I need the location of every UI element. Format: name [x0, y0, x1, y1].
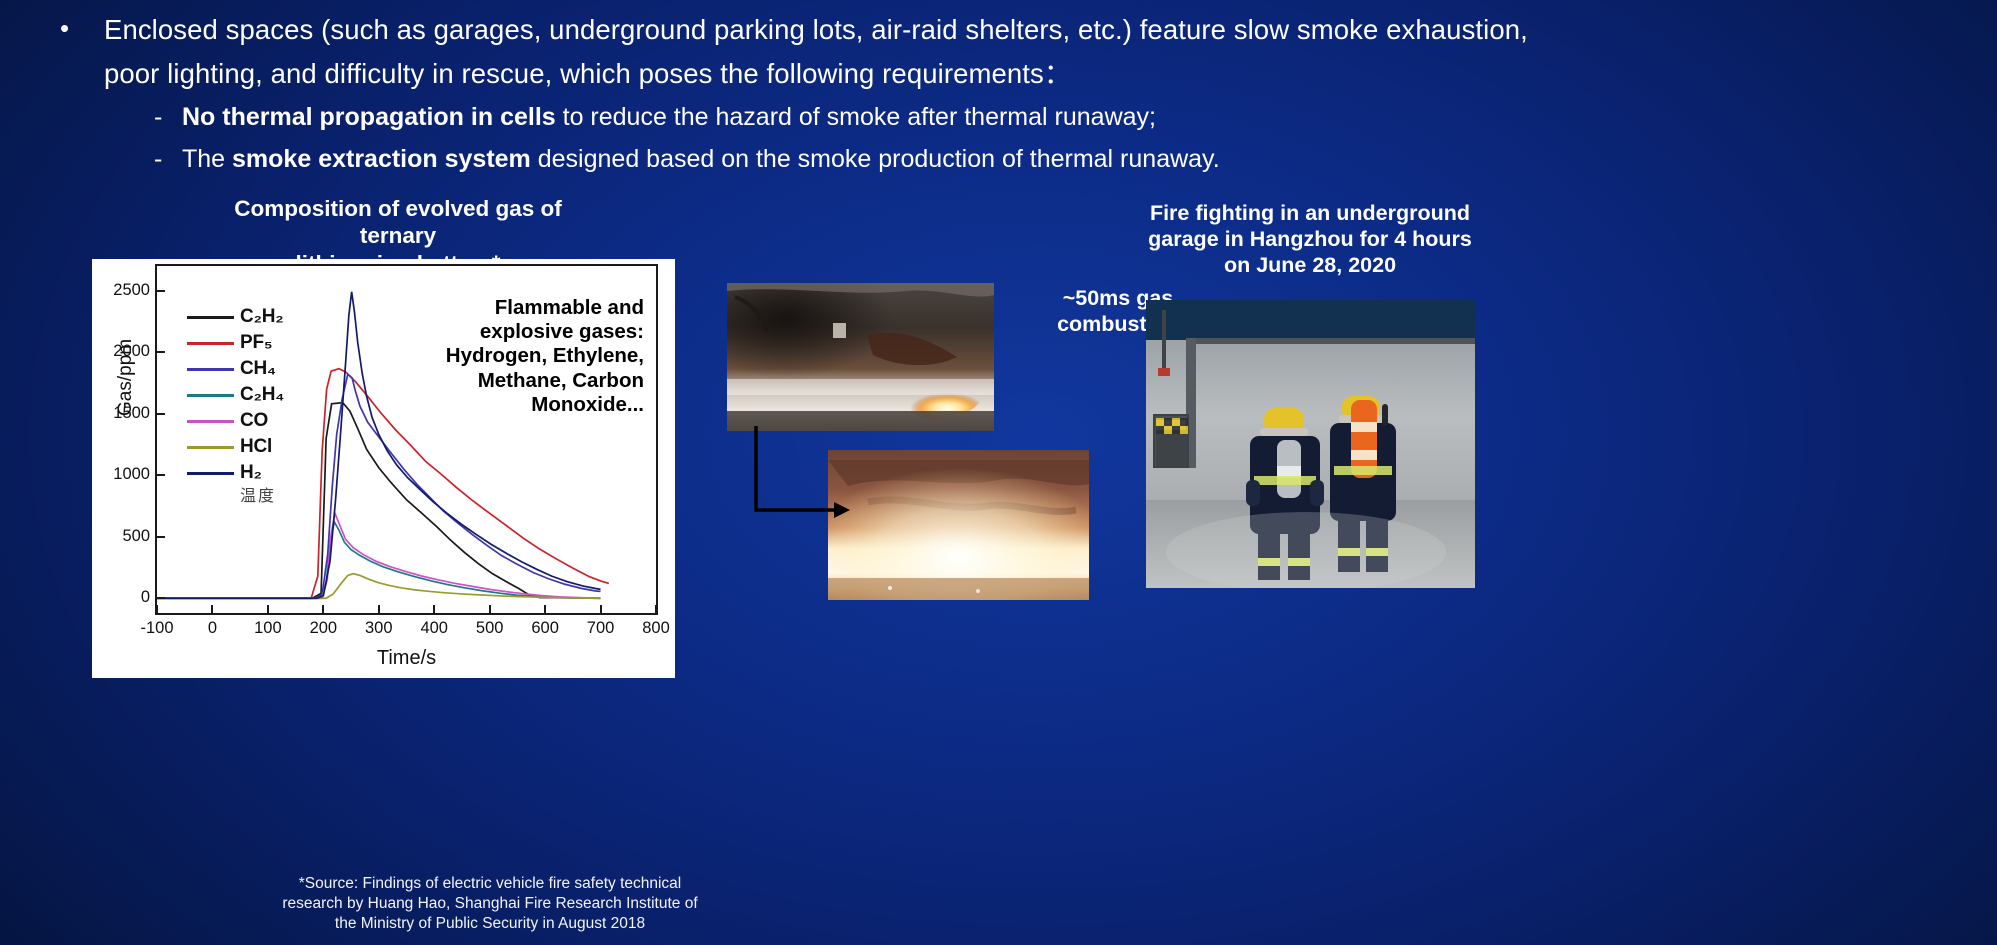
x-tick-label: 0: [208, 619, 217, 638]
zoom-arrow-icon: [752, 424, 862, 534]
main-bullet: • Enclosed spaces (such as garages, unde…: [50, 8, 1950, 96]
dash-marker-icon: -: [154, 140, 182, 180]
gas-composition-chart: Gas/ppm 05001000150020002500 -1000100200…: [92, 259, 675, 678]
legend-swatch-icon: [187, 368, 234, 371]
x-tick-label: 600: [531, 619, 559, 638]
legend-item-CH4: CH₄: [187, 356, 284, 382]
x-tick-label: 400: [420, 619, 448, 638]
y-tick-mark: [157, 474, 165, 476]
x-tick-mark: [655, 605, 657, 613]
x-tick-label: 200: [310, 619, 338, 638]
sub-bullet-2-text: The smoke extraction system designed bas…: [182, 140, 1220, 180]
y-tick-mark: [157, 351, 165, 353]
sub-bullet-1: - No thermal propagation in cells to red…: [154, 98, 1950, 138]
legend-item-C2H4: C₂H₄: [187, 382, 284, 408]
sub-bullet-1-text: No thermal propagation in cells to reduc…: [182, 98, 1156, 138]
photo-gas-combustion-bottom: [828, 450, 1089, 600]
legend-swatch-icon: [187, 446, 234, 449]
x-tick-label: 100: [254, 619, 282, 638]
main-bullet-line2: poor lighting, and difficulty in rescue,…: [104, 58, 1071, 89]
sub-bullet-1-bold: No thermal propagation in cells: [182, 103, 556, 131]
hangzhou-caption-line3: on June 28, 2020: [1224, 253, 1396, 277]
legend-swatch-icon: [187, 420, 234, 423]
y-tick-label: 2500: [113, 281, 150, 300]
bullet-text-block: • Enclosed spaces (such as garages, unde…: [50, 8, 1950, 179]
hangzhou-caption-line2: garage in Hangzhou for 4 hours: [1148, 227, 1472, 251]
series-C2H4: [157, 522, 601, 598]
sub-bullet-2: - The smoke extraction system designed b…: [154, 140, 1950, 180]
chart-legend: C₂H₂PF₅CH₄C₂H₄COHClH₂温度: [187, 304, 284, 506]
photo-battery-combustion-top: [727, 283, 994, 431]
legend-swatch-icon: [187, 342, 234, 345]
y-tick-mark: [157, 413, 165, 415]
x-tick-label: 300: [365, 619, 393, 638]
legend-label: HCl: [240, 436, 272, 458]
hangzhou-fire-caption: Fire fighting in an underground garage i…: [1130, 200, 1490, 279]
sub-bullet-1-rest: to reduce the hazard of smoke after ther…: [556, 103, 1156, 131]
legend-item-C2H2: C₂H₂: [187, 304, 284, 330]
x-tick-mark: [267, 605, 269, 613]
legend-label: CH₄: [240, 358, 276, 380]
legend-swatch-icon: [187, 316, 234, 319]
legend-label: H₂: [240, 462, 262, 484]
main-bullet-text: Enclosed spaces (such as garages, underg…: [104, 8, 1950, 96]
source-line-3: the Ministry of Public Security in Augus…: [335, 915, 645, 932]
dash-marker-icon: -: [154, 98, 182, 138]
legend-item-PF5: PF₅: [187, 330, 284, 356]
slide-root: • Enclosed spaces (such as garages, unde…: [0, 0, 1997, 945]
y-tick-mark: [157, 536, 165, 538]
x-tick-mark: [156, 605, 158, 613]
y-tick-label: 0: [141, 588, 150, 607]
hangzhou-caption-line1: Fire fighting in an underground: [1150, 201, 1470, 225]
photo-firefighters-garage: [1146, 300, 1475, 588]
x-axis-label: Time/s: [377, 647, 436, 670]
x-tick-mark: [211, 605, 213, 613]
flammable-gases-annotation: Flammable and explosive gases: Hydrogen,…: [439, 296, 644, 417]
x-tick-label: 700: [587, 619, 615, 638]
legend-item-HCl: HCl: [187, 434, 284, 460]
legend-label: CO: [240, 410, 268, 432]
chart-title-line1: Composition of evolved gas of ternary: [234, 196, 562, 248]
x-tick-mark: [600, 605, 602, 613]
y-tick-label: 1000: [113, 465, 150, 484]
chart-plot-area: Gas/ppm 05001000150020002500 -1000100200…: [155, 264, 658, 615]
x-tick-mark: [489, 605, 491, 613]
source-line-2: research by Huang Hao, Shanghai Fire Res…: [282, 895, 697, 912]
x-tick-mark: [544, 605, 546, 613]
x-tick-mark: [322, 605, 324, 613]
chart-source-note: *Source: Findings of electric vehicle fi…: [160, 874, 820, 934]
legend-label: PF₅: [240, 332, 272, 354]
legend-label: C₂H₂: [240, 306, 284, 328]
x-tick-mark: [433, 605, 435, 613]
legend-swatch-icon: [187, 394, 234, 397]
main-bullet-line1: Enclosed spaces (such as garages, underg…: [104, 14, 1528, 45]
y-tick-mark: [157, 597, 165, 599]
legend-item-CO: CO: [187, 408, 284, 434]
source-line-1: *Source: Findings of electric vehicle fi…: [299, 875, 682, 892]
legend-label: C₂H₄: [240, 384, 284, 406]
sub-bullet-2-rest: designed based on the smoke production o…: [531, 145, 1220, 173]
bullet-marker-icon: •: [60, 8, 104, 50]
legend-swatch-icon: [187, 472, 234, 475]
sub-bullet-2-lead: The: [182, 145, 232, 173]
series-CO: [157, 513, 601, 598]
y-tick-label: 1500: [113, 404, 150, 423]
x-tick-label: -100: [140, 619, 173, 638]
y-tick-label: 500: [122, 527, 150, 546]
x-tick-label: 500: [476, 619, 504, 638]
x-tick-label: 800: [642, 619, 670, 638]
y-tick-label: 2000: [113, 342, 150, 361]
y-tick-mark: [157, 290, 165, 292]
x-tick-mark: [378, 605, 380, 613]
legend-extra-label: 温度: [240, 482, 284, 506]
sub-bullet-2-bold: smoke extraction system: [232, 145, 531, 173]
